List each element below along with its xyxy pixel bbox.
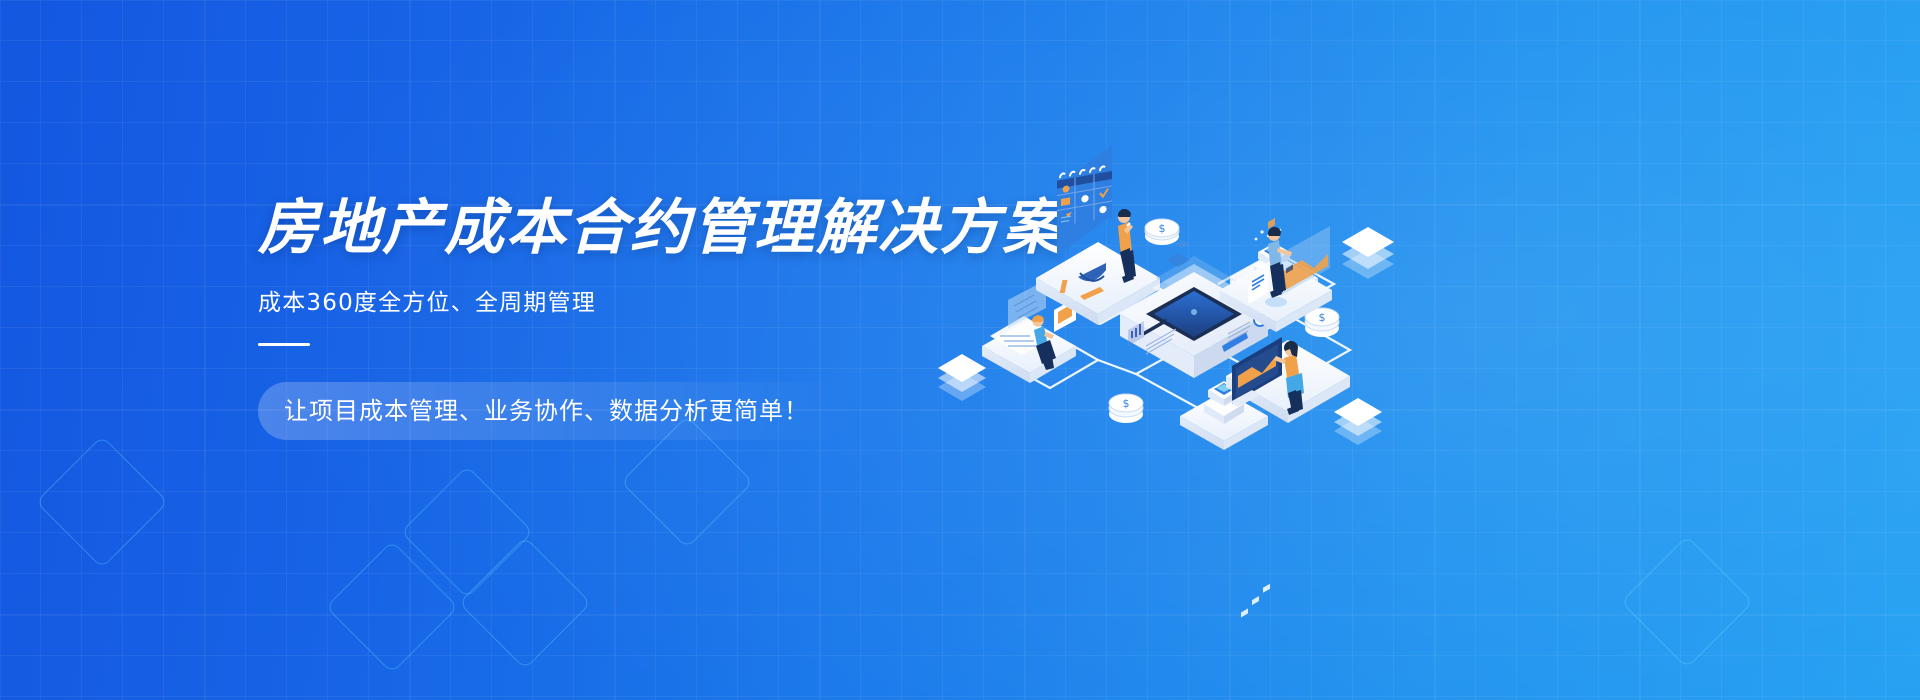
svg-text:$: $ xyxy=(1123,397,1130,410)
floating-layers-left xyxy=(938,354,986,401)
coin-stack-bottom: $ xyxy=(1109,394,1143,423)
decorative-diamond xyxy=(36,436,169,569)
svg-text:$: $ xyxy=(1159,222,1166,235)
floating-layers-bottom-right xyxy=(1334,398,1382,445)
decorative-diamond xyxy=(401,466,534,599)
coin-stack-top: $ xyxy=(1145,219,1179,245)
floating-layers-right xyxy=(1342,227,1394,279)
hero-illustration: $ $ $ xyxy=(930,160,1400,460)
tagline-pill: 让项目成本管理、业务协作、数据分析更简单！ xyxy=(258,382,849,440)
hero-banner: 房地产成本合约管理解决方案 成本360度全方位、全周期管理 让项目成本管理、业务… xyxy=(0,0,1920,700)
decorative-diamond xyxy=(326,541,459,674)
page-title: 房地产成本合约管理解决方案 xyxy=(258,196,1018,261)
decorative-diamond xyxy=(459,537,592,670)
decorative-diamond xyxy=(1621,536,1754,669)
subtitle: 成本360度全方位、全周期管理 xyxy=(258,283,1018,317)
hero-content: 房地产成本合约管理解决方案 成本360度全方位、全周期管理 让项目成本管理、业务… xyxy=(258,196,1018,440)
svg-text:$: $ xyxy=(1319,311,1326,324)
